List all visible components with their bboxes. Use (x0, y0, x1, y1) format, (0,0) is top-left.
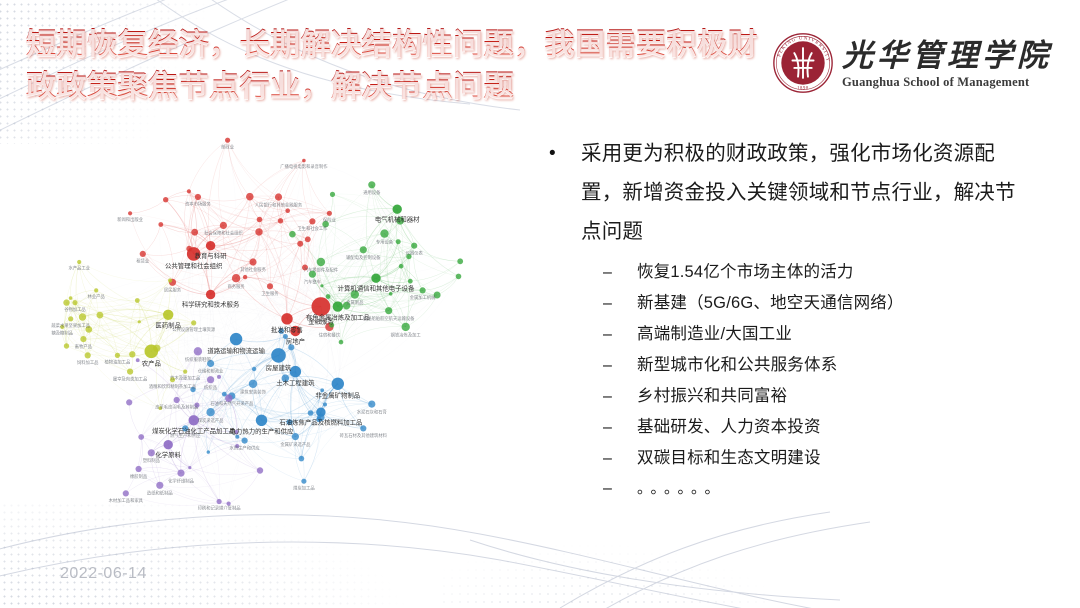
graph-node (301, 479, 306, 484)
graph-node (115, 353, 120, 358)
graph-node (281, 313, 292, 324)
graph-node-label: 人民银行和其他金融服务 (255, 201, 303, 208)
graph-node-label: 饲料加工品 (77, 359, 98, 366)
graph-node (177, 470, 184, 477)
graph-node (271, 348, 286, 363)
graph-node (385, 307, 392, 314)
slide-body-content: • 采用更为积极的财政政策，强化市场化资源配置，新增资金投入关键领域和节点行业，… (545, 134, 1045, 504)
graph-node (168, 278, 172, 282)
graph-node (220, 222, 227, 229)
graph-node (163, 197, 168, 202)
graph-node (299, 456, 305, 462)
graph-node (267, 283, 273, 289)
graph-node (402, 323, 410, 331)
graph-node (456, 274, 462, 280)
graph-node (368, 181, 375, 188)
graph-node (77, 260, 81, 264)
sub-bullet-item: –恢复1.54亿个市场主体的活力 (545, 257, 1045, 288)
lead-paragraph: 采用更为积极的财政政策，强化市场化资源配置，新增资金投入关键领域和节点行业，解决… (581, 134, 1021, 251)
graph-node (207, 450, 210, 453)
graph-node-label: 农产品 (142, 359, 161, 368)
graph-node (408, 279, 413, 284)
sub-bullet-label: 恢复1.54亿个市场主体的活力 (637, 257, 854, 287)
graph-node-label: 居民服务 (164, 287, 182, 294)
slide-date: 2022-06-14 (60, 565, 147, 583)
logo-english-name: Guanghua School of Management (842, 75, 1029, 90)
graph-node-label: 石油和天然气开采产品 (210, 400, 253, 407)
graph-node (194, 347, 202, 355)
sub-dash-marker: – (545, 289, 637, 319)
graph-node-label: 汽车零部件及配件 (304, 267, 339, 274)
graph-node (393, 205, 402, 214)
graph-node (85, 352, 91, 358)
graph-node (206, 241, 215, 250)
graph-node (174, 397, 180, 403)
graph-node-label: 房屋建筑 (266, 363, 292, 372)
sub-bullet-item: –高端制造业/大国工业 (545, 319, 1045, 350)
graph-node-label: 木材加工品和家具 (109, 497, 144, 504)
graph-node (457, 258, 463, 264)
sub-bullet-label: 高端制造业/大国工业 (637, 319, 792, 349)
graph-node (163, 310, 173, 320)
graph-node (138, 434, 144, 440)
graph-node (411, 243, 417, 249)
graph-node-label: 石油炼焦产品及核燃料加工品 (279, 417, 362, 426)
graph-node-label: 植物油加工品 (105, 359, 131, 366)
graph-node (278, 218, 283, 223)
graph-node-label: 纺织服装鞋帽 (185, 356, 211, 363)
sub-bullet-item: –新型城市化和公共服务体系 (545, 350, 1045, 381)
graph-node (136, 466, 142, 472)
graph-node (255, 228, 262, 235)
graph-node-label: 谷物加工品 (64, 306, 85, 313)
graph-node-label: 建筑安装装饰 (240, 389, 266, 396)
graph-node-label: 输配电及控制设备 (346, 254, 381, 261)
bullet-marker-icon: • (545, 134, 581, 173)
graph-node-label: 资本市场服务 (185, 201, 211, 208)
graph-node (129, 351, 135, 357)
graph-node (140, 251, 146, 257)
graph-node-label: 新闻和出版业 (117, 216, 143, 223)
graph-node-label: 煤炭化学石油化工产品加工品 (152, 426, 235, 435)
peking-university-seal-icon: PEKING UNIVERSITY 1898 (772, 32, 834, 94)
graph-node (290, 366, 301, 377)
graph-node-label: 卫生和社会工作 (297, 225, 328, 232)
graph-node-label: 仓储和邮政业 (198, 368, 224, 375)
graph-node (128, 211, 132, 215)
graph-node-label: 专用设备 (376, 238, 394, 245)
graph-node-label: 教育与科研 (195, 251, 228, 260)
title-line-2: 政政策聚焦节点行业，解决节点问题 (26, 66, 786, 108)
graph-node (127, 369, 133, 375)
sub-bullet-item: –。。。。。。 (545, 474, 1045, 504)
slide-title: 短期恢复经济，长期解决结构性问题，我国需要积极财 政政策聚焦节点行业，解决节点问… (26, 24, 786, 108)
graph-node (153, 345, 160, 352)
graph-node-label: 金属加工机械 (410, 294, 436, 301)
graph-node-label: 公共设施管理土壤资源 (172, 326, 216, 333)
sub-bullet-label: 乡村振兴和共同富裕 (637, 381, 787, 411)
graph-node (312, 297, 331, 316)
graph-node (217, 375, 221, 379)
graph-node-label: 酒精和饮料精制茶加工品 (149, 383, 196, 390)
graph-node (126, 399, 132, 405)
presentation-slide: 短期恢复经济，长期解决结构性问题，我国需要积极财 政政策聚焦节点行业，解决节点问… (0, 0, 1080, 608)
graph-edges (62, 140, 460, 505)
graph-node (308, 410, 314, 416)
title-line-1: 短期恢复经济，长期解决结构性问题，我国需要积极财 (26, 24, 786, 66)
network-graph-canvas: 邮政业广播电视电影和录音制作资本市场服务人民银行和其他金融服务保险业卫生和社会工… (40, 118, 510, 558)
graph-node (332, 378, 344, 390)
graph-node-label: 糖及糖制品 (51, 330, 72, 337)
graph-node (323, 403, 327, 407)
graph-node (420, 287, 426, 293)
sub-dash-marker: – (545, 382, 637, 412)
sub-dash-marker: – (545, 444, 637, 474)
graph-node-label: 道路运输和物流运输 (207, 346, 265, 355)
graph-node (309, 218, 315, 224)
graph-node (380, 229, 388, 237)
graph-node (188, 466, 191, 469)
graph-node (285, 208, 290, 213)
graph-node (257, 467, 263, 473)
graph-node (97, 312, 104, 319)
graph-node (63, 299, 69, 305)
graph-node (305, 236, 311, 242)
sub-bullet-label: 新型城市化和公共服务体系 (637, 350, 837, 380)
graph-node-label: 卫生服务 (261, 290, 279, 297)
graph-node (371, 274, 380, 283)
graph-node-label: 煤炭加工品 (293, 484, 314, 491)
graph-node (339, 340, 344, 345)
logo-chinese-name: 光华管理学院 (842, 37, 1052, 75)
graph-node (206, 290, 215, 299)
graph-node (297, 241, 303, 247)
graph-node-label: 化学纤维制品 (168, 477, 194, 484)
sub-bullet-item: –新基建（5G/6G、地空天通信网络） (545, 288, 1045, 319)
graph-node (138, 320, 141, 323)
graph-node (187, 189, 191, 193)
graph-node-label: 造纸和纸制品 (147, 490, 173, 497)
graph-node-label: 印刷和记录媒介复制品 (198, 505, 241, 512)
graph-node-label: 水产品工业 (68, 265, 90, 272)
graph-node-label: 计算机通信和其他电子设备 (338, 283, 415, 292)
graph-node (68, 316, 73, 321)
graph-node-label: 屠宰及肉类加工品 (113, 375, 147, 382)
graph-node-label: 电气机械和器材 (375, 214, 420, 223)
graph-node-label: 水泥石灰和石膏 (357, 408, 388, 415)
graph-node (246, 193, 254, 201)
graph-node (136, 358, 140, 362)
graph-node-label: 房地产 (286, 337, 305, 346)
sub-bullet-list: –恢复1.54亿个市场主体的活力–新基建（5G/6G、地空天通信网络）–高端制造… (545, 257, 1045, 504)
graph-node-label: 皮革毛皮羽毛及其制品 (155, 404, 198, 411)
graph-node-label: 金属制品 (346, 299, 363, 306)
graph-node-label: 林业产品 (88, 293, 105, 300)
sub-dash-marker: – (545, 413, 637, 443)
industry-network-graph: 邮政业广播电视电影和录音制作资本市场服务人民银行和其他金融服务保险业卫生和社会工… (40, 118, 510, 558)
graph-node-label: 钢铁冶炼及加工 (391, 332, 422, 339)
graph-node (243, 275, 247, 279)
graph-node (333, 301, 343, 311)
graph-node-label: 金属矿采选产品 (280, 441, 310, 448)
graph-node (257, 217, 263, 223)
graph-node (164, 440, 173, 449)
graph-node-label: 批发和零售 (271, 325, 303, 334)
graph-node (206, 408, 214, 416)
graph-node (256, 415, 267, 426)
graph-node-label: 住宿和餐饮 (319, 332, 341, 339)
graph-node (191, 229, 198, 236)
graph-node (330, 192, 335, 197)
graph-node-label: 竹木及藤加工品 (170, 374, 200, 381)
graph-node-label: 畜牧产品 (75, 343, 92, 350)
graph-node-label: 汽车整车 (304, 278, 322, 285)
graph-node (242, 438, 248, 444)
guanghua-logo: PEKING UNIVERSITY 1898 光华管理学院 Guanghua S… (772, 32, 1052, 94)
graph-node-label: 纺织品 (204, 384, 217, 391)
graph-node (183, 370, 187, 374)
graph-node (123, 490, 129, 496)
graph-node (249, 258, 256, 265)
graph-node (399, 264, 404, 269)
graph-node (186, 246, 192, 252)
sub-bullet-label: 。。。。。。 (637, 474, 726, 504)
graph-node-label: 邮政业 (221, 143, 235, 150)
sub-bullet-item: –乡村振兴和共同富裕 (545, 381, 1045, 412)
graph-node (207, 376, 214, 383)
graph-node (275, 193, 282, 200)
graph-node-label: 蔬菜水果坚果加工品 (51, 322, 90, 329)
sub-bullet-label: 双碳目标和生态文明建设 (637, 443, 821, 473)
sub-dash-marker: – (545, 474, 637, 504)
graph-node (80, 336, 86, 342)
graph-node (158, 222, 163, 227)
graph-node (252, 367, 256, 371)
graph-node-label: 其他社会服务 (240, 266, 266, 273)
graph-node (94, 288, 98, 292)
graph-node (135, 298, 140, 303)
graph-node-label: 电力热力的生产和供应 (230, 427, 295, 436)
graph-node (302, 159, 306, 163)
graph-node-label: 仪器仪表 (406, 250, 424, 257)
graph-node (289, 231, 296, 238)
graph-node (225, 138, 230, 143)
graph-node (389, 292, 393, 296)
graph-node (156, 482, 163, 489)
sub-bullet-item: –基础研发、人力资本投资 (545, 412, 1045, 443)
graph-node-label: 有色金属冶炼及加工品 (306, 312, 370, 321)
graph-node-label: 土木工程建筑 (276, 378, 315, 387)
graph-node-label: 广播电视电影和录音制作 (280, 163, 328, 170)
graph-node-label: 煤炭采选产品 (198, 417, 224, 424)
graph-node (396, 239, 401, 244)
graph-node-label: 租赁业 (136, 258, 150, 265)
graph-node-label: 公共管理和社会组织 (165, 261, 223, 270)
graph-node-label: 商务服务 (228, 283, 246, 290)
graph-node-label: 保险业 (323, 217, 337, 224)
sub-bullet-item: –双碳目标和生态文明建设 (545, 443, 1045, 474)
graph-node (79, 313, 86, 320)
graph-node (72, 300, 77, 305)
svg-text:1898: 1898 (797, 87, 809, 92)
graph-node (64, 343, 69, 348)
lead-bullet-row: • 采用更为积极的财政政策，强化市场化资源配置，新增资金投入关键领域和节点行业，… (545, 134, 1045, 251)
graph-node (191, 320, 196, 325)
graph-node-label: 水的生产和供应 (230, 444, 261, 451)
graph-node-label: 铁路船舶航空航天运输设备 (363, 315, 415, 322)
graph-node (230, 333, 242, 345)
graph-node (326, 294, 331, 299)
graph-node (320, 284, 323, 287)
graph-node (195, 194, 201, 200)
graph-node (232, 274, 240, 282)
graph-node-label: 橡胶制品 (130, 473, 147, 480)
sub-dash-marker: – (545, 320, 637, 350)
graph-node (69, 296, 73, 300)
graph-node-label: 塑料制品 (143, 457, 160, 464)
graph-node-label: 通用设备 (363, 189, 381, 196)
sub-bullet-label: 基础研发、人力资本投资 (637, 412, 821, 442)
graph-node (249, 380, 257, 388)
graph-node (327, 211, 332, 216)
graph-node (148, 449, 155, 456)
graph-node-label: 社会保障和社会组织 (204, 230, 243, 237)
graph-node-label: 科学研究和技术服务 (182, 300, 240, 309)
graph-node (360, 246, 367, 253)
graph-node (217, 499, 222, 504)
graph-node-label: 砖瓦石材及其他建筑材料 (340, 432, 388, 439)
sub-dash-marker: – (545, 351, 637, 381)
graph-node-label: 非金属矿物制品 (315, 391, 360, 400)
sub-dash-marker: – (545, 258, 637, 288)
graph-node (368, 401, 375, 408)
sub-bullet-label: 新基建（5G/6G、地空天通信网络） (637, 288, 904, 318)
graph-node (317, 258, 325, 266)
